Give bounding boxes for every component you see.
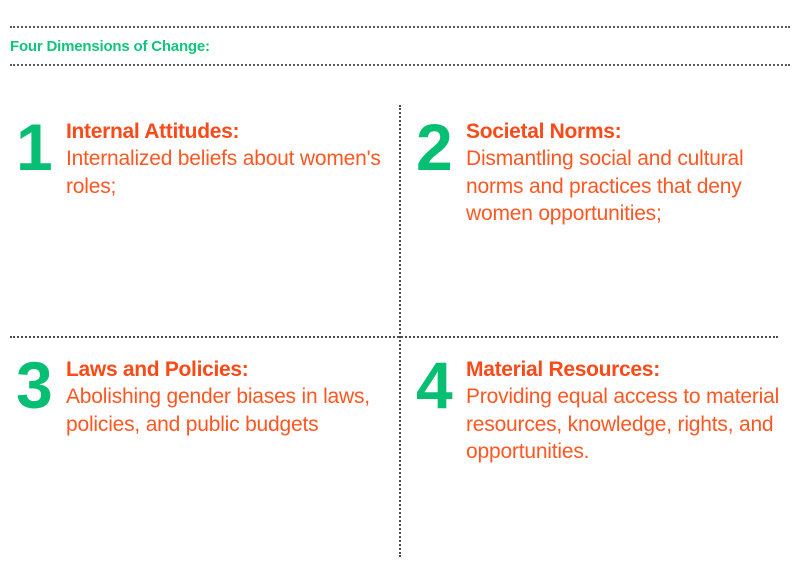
dimension-number-2: 2 [416,116,466,179]
dimension-description-1: Internalized beliefs about women's roles… [66,145,384,200]
dimension-number-4: 4 [416,354,466,417]
dimensions-grid: 1 Internal Attitudes: Internalized belie… [0,100,800,560]
dimension-item-1: 1 Internal Attitudes: Internalized belie… [0,114,400,200]
dimension-number-1: 1 [16,116,66,179]
dimension-text-2: Societal Norms: Dismantling social and c… [466,114,800,227]
dimension-title-1: Internal Attitudes: [66,118,384,145]
dimension-number-wrapper-4: 4 [400,352,466,417]
dimension-title-4: Material Resources: [466,356,784,383]
dimension-item-4: 4 Material Resources: Providing equal ac… [400,352,800,465]
dimension-text-3: Laws and Policies: Abolishing gender bia… [66,352,400,438]
dimension-number-wrapper-1: 1 [0,114,66,179]
dimension-description-3: Abolishing gender biases in laws, polici… [66,383,384,438]
dimension-text-1: Internal Attitudes: Internalized beliefs… [66,114,400,200]
dimension-text-4: Material Resources: Providing equal acce… [466,352,800,465]
dimension-description-2: Dismantling social and cultural norms an… [466,145,784,227]
card-header: Four Dimensions of Change: [10,26,790,66]
dimension-title-3: Laws and Policies: [66,356,384,383]
dimension-title-2: Societal Norms: [466,118,784,145]
page-title: Four Dimensions of Change: [10,38,210,55]
horizontal-divider [10,336,778,338]
dimension-number-wrapper-3: 3 [0,352,66,417]
dimension-item-2: 2 Societal Norms: Dismantling social and… [400,114,800,227]
dimension-item-3: 3 Laws and Policies: Abolishing gender b… [0,352,400,438]
dimension-number-wrapper-2: 2 [400,114,466,179]
dimension-description-4: Providing equal access to material resou… [466,383,784,465]
four-dimensions-card: Four Dimensions of Change: 1 Internal At… [0,0,800,576]
dimension-number-3: 3 [16,354,66,417]
